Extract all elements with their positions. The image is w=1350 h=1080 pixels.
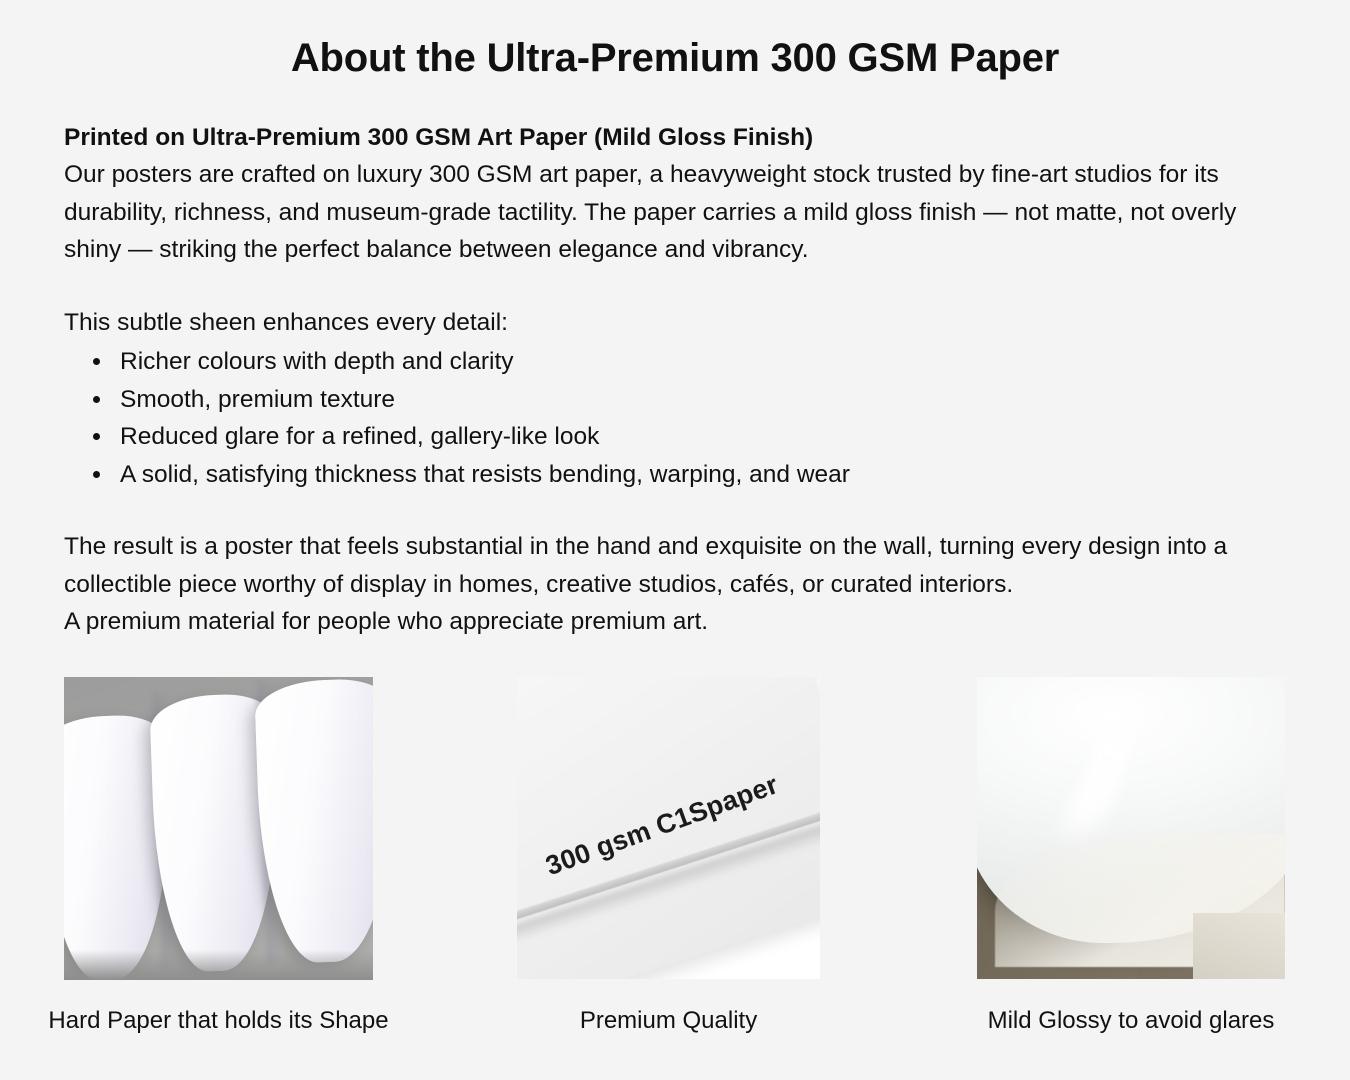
content-body: Printed on Ultra-Premium 300 GSM Art Pap… bbox=[0, 119, 1350, 641]
list-item: Reduced glare for a refined, gallery-lik… bbox=[114, 418, 1286, 455]
list-item: A solid, satisfying thickness that resis… bbox=[114, 456, 1286, 493]
page-title: About the Ultra-Premium 300 GSM Paper bbox=[0, 0, 1350, 81]
closing-paragraph: The result is a poster that feels substa… bbox=[64, 528, 1279, 603]
photo1-shadow bbox=[64, 950, 373, 980]
curved-white-paper-sheets-photo bbox=[64, 677, 373, 980]
closing-tagline: A premium material for people who apprec… bbox=[64, 603, 1279, 640]
list-item: Richer colours with depth and clarity bbox=[114, 343, 1286, 380]
intro-paragraph: Our posters are crafted on luxury 300 GS… bbox=[64, 156, 1279, 268]
list-item: Smooth, premium texture bbox=[114, 381, 1286, 418]
gallery-caption-3: Mild Glossy to avoid glares bbox=[988, 1007, 1275, 1036]
gallery-figure-3: Mild Glossy to avoid glares bbox=[977, 677, 1285, 979]
paper-info-page: About the Ultra-Premium 300 GSM Paper Pr… bbox=[0, 0, 1350, 1080]
glossy-curved-paper-photo bbox=[977, 677, 1285, 979]
paper-sheet-corner-labelled-photo: 300 gsm C1Spaper bbox=[517, 677, 820, 979]
paragraph-spacer-1 bbox=[64, 269, 1286, 304]
gallery-figure-2: 300 gsm C1Spaper Premium Quality bbox=[517, 677, 820, 979]
photo3-right-base bbox=[1193, 913, 1285, 979]
benefits-list: Richer colours with depth and clarity Sm… bbox=[64, 343, 1286, 493]
gallery-figure-1: Hard Paper that holds its Shape bbox=[64, 677, 373, 980]
gallery-caption-2: Premium Quality bbox=[580, 1007, 757, 1036]
paragraph-spacer-2 bbox=[64, 493, 1286, 528]
gallery-caption-1: Hard Paper that holds its Shape bbox=[48, 1007, 388, 1036]
list-intro: This subtle sheen enhances every detail: bbox=[64, 304, 1279, 341]
lede-heading: Printed on Ultra-Premium 300 GSM Art Pap… bbox=[64, 119, 1286, 156]
